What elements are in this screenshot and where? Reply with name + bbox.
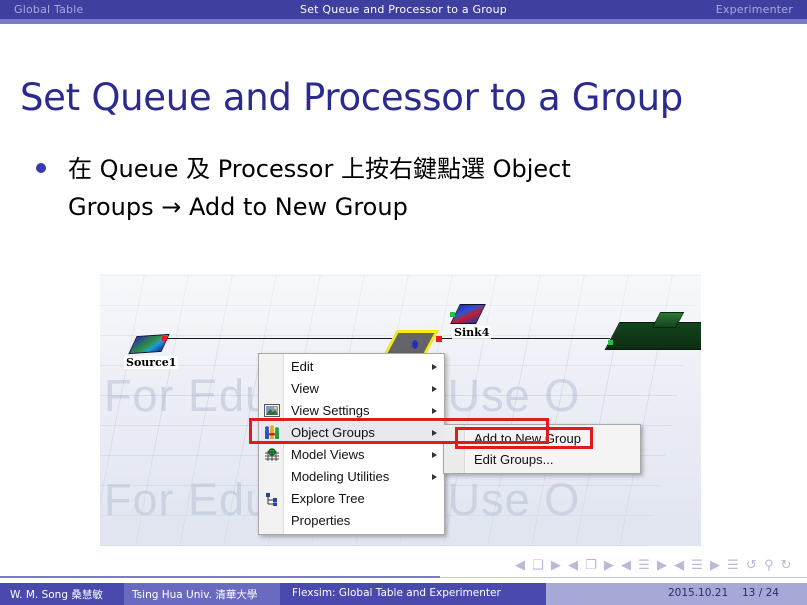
menu-item-properties[interactable]: Properties bbox=[259, 510, 444, 532]
menu-item-view[interactable]: View bbox=[259, 378, 444, 400]
footer-subject: Flexsim: Global Table and Experimenter bbox=[292, 587, 501, 599]
processor-input-port-icon bbox=[608, 340, 613, 345]
menu-item-object-groups[interactable]: Object Groups bbox=[259, 422, 444, 444]
submenu-item-add-to-new-group-label: Add to New Group bbox=[474, 431, 581, 446]
menu-item-model-views-label: Model Views bbox=[291, 447, 364, 462]
footer-date: 2015.10.21 bbox=[668, 587, 728, 599]
bullet-item-line-2: Groups → Add to New Group bbox=[68, 188, 408, 226]
header-nav-next-section[interactable]: Experimenter bbox=[716, 3, 793, 16]
menu-item-explore-tree[interactable]: Explore Tree bbox=[259, 488, 444, 510]
footer-author: W. M. Song 桑慧敏 bbox=[10, 587, 103, 602]
footer-affiliation: Tsing Hua Univ. 清華大學 bbox=[132, 587, 257, 602]
header-accent-strip bbox=[0, 19, 807, 24]
menu-item-model-views[interactable]: Model Views bbox=[259, 444, 444, 466]
object-label-source1: Source1 bbox=[124, 356, 178, 369]
object-label-sink4: Sink4 bbox=[452, 326, 491, 339]
menu-item-object-groups-label: Object Groups bbox=[291, 425, 375, 440]
chevron-right-icon bbox=[432, 452, 437, 458]
progress-bar-filled bbox=[0, 576, 440, 578]
chevron-right-icon bbox=[432, 408, 437, 414]
context-menu[interactable]: Edit View View Settings Object Groups bbox=[258, 353, 445, 535]
people-group-icon bbox=[264, 425, 280, 441]
menu-item-properties-label: Properties bbox=[291, 513, 350, 528]
submenu-item-add-to-new-group[interactable]: Add to New Group bbox=[444, 428, 640, 449]
menu-item-view-label: View bbox=[291, 381, 319, 396]
progress-bar-track bbox=[440, 577, 807, 578]
chevron-right-icon bbox=[432, 386, 437, 392]
bullet-marker-icon bbox=[36, 163, 46, 173]
footer-page-number: 13 / 24 bbox=[742, 587, 779, 599]
menu-item-view-settings-label: View Settings bbox=[291, 403, 370, 418]
menu-item-view-settings[interactable]: View Settings bbox=[259, 400, 444, 422]
chevron-right-icon bbox=[432, 364, 437, 370]
queue-output-port-icon bbox=[436, 336, 442, 342]
submenu-item-edit-groups-label: Edit Groups... bbox=[474, 452, 553, 467]
object-groups-submenu[interactable]: Add to New Group Edit Groups... bbox=[443, 424, 641, 474]
connector-source-to-queue bbox=[164, 338, 392, 339]
sink4-input-port-icon bbox=[450, 312, 455, 317]
footer-bar: W. M. Song 桑慧敏 Tsing Hua Univ. 清華大學 Flex… bbox=[0, 583, 807, 605]
menu-item-edit[interactable]: Edit bbox=[259, 356, 444, 378]
photo-icon bbox=[264, 403, 280, 419]
menu-item-modeling-utilities-label: Modeling Utilities bbox=[291, 469, 389, 484]
chevron-right-icon bbox=[432, 430, 437, 436]
grid-globe-icon bbox=[264, 447, 280, 463]
menu-item-edit-label: Edit bbox=[291, 359, 313, 374]
menu-item-modeling-utilities[interactable]: Modeling Utilities bbox=[259, 466, 444, 488]
tree-icon bbox=[264, 491, 280, 507]
submenu-item-edit-groups[interactable]: Edit Groups... bbox=[444, 449, 640, 470]
source1-output-port-icon bbox=[162, 336, 167, 341]
chevron-right-icon bbox=[432, 474, 437, 480]
menu-item-explore-tree-label: Explore Tree bbox=[291, 491, 365, 506]
bullet-item-line-1: 在 Queue 及 Processor 上按右鍵點選 Object bbox=[68, 150, 688, 188]
header-current-section[interactable]: Set Queue and Processor to a Group bbox=[0, 3, 807, 16]
page-title: Set Queue and Processor to a Group bbox=[20, 76, 683, 119]
queue-contained-item-icon bbox=[412, 340, 418, 349]
beamer-navigation-bar[interactable]: ◀ ❑ ▶ ◀ ❐ ▶ ◀ ☰ ▶ ◀ ☰ ▶ ☰ ↺ ⚲ ↻ bbox=[0, 558, 807, 574]
